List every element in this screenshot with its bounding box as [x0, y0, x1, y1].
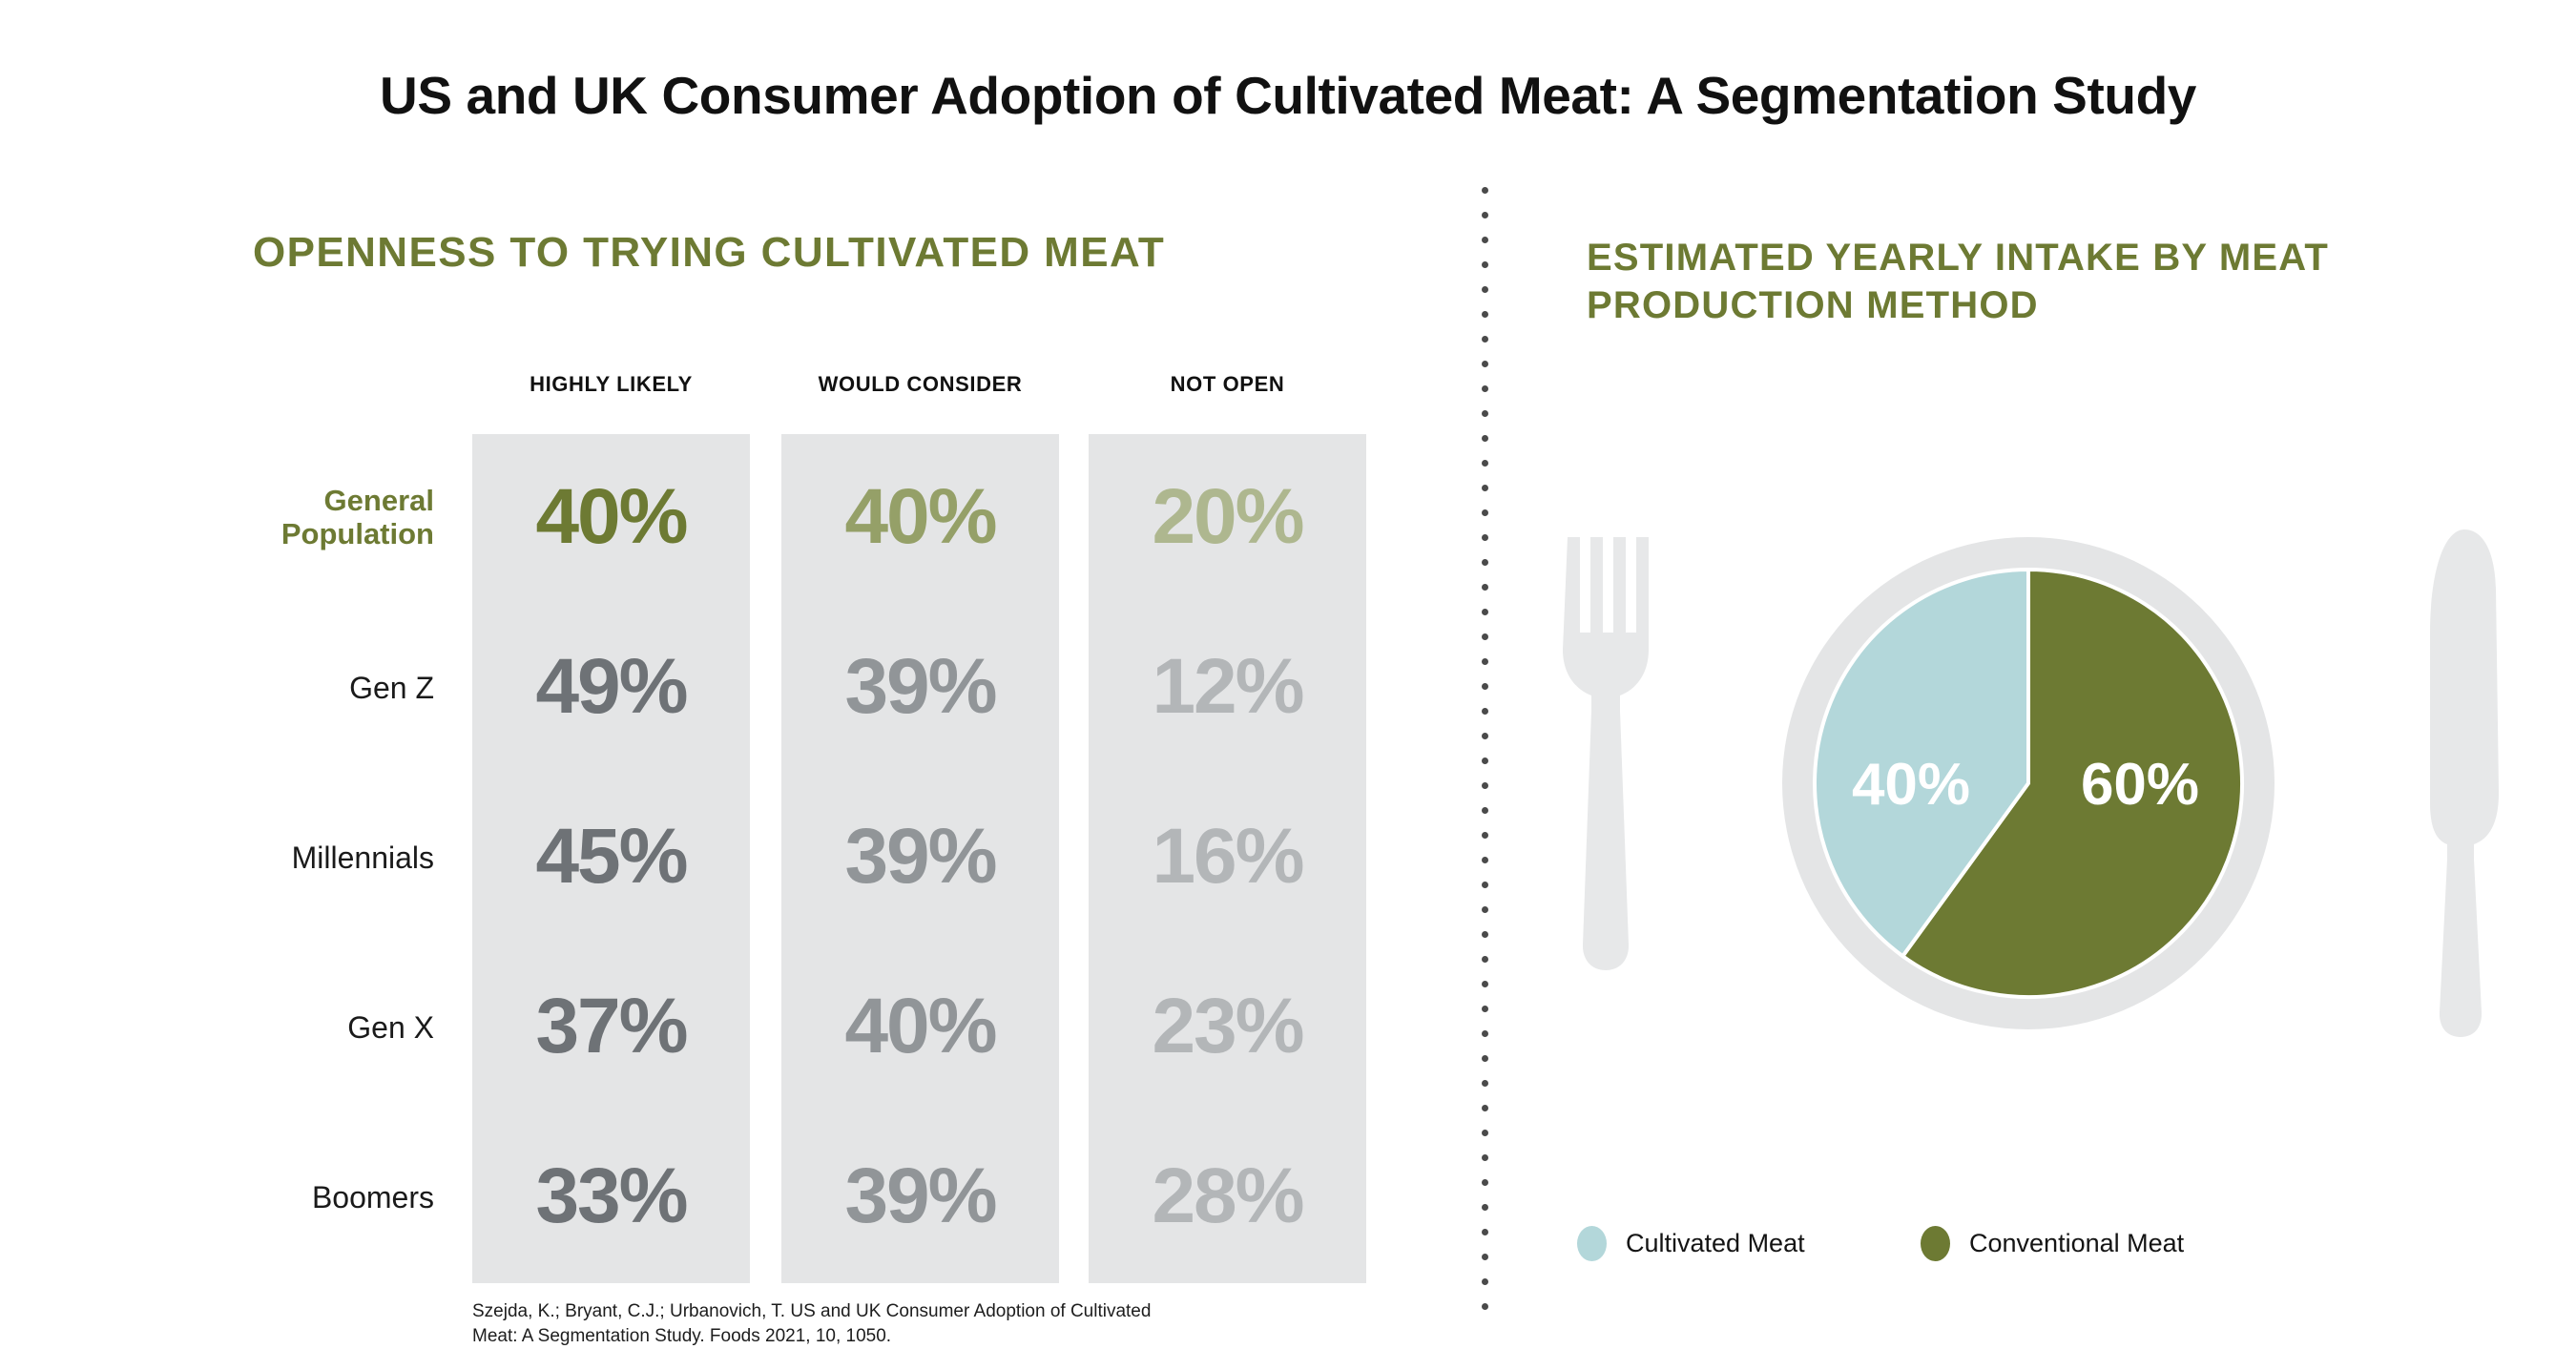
plate-pie-svg: 60% 40% [1482, 520, 2576, 1054]
value-grid: 40%40%20%49%39%12%45%39%16%37%40%23%33%3… [0, 434, 1482, 1283]
value-boomers-highly-likely: 33% [472, 1157, 750, 1235]
column-header-highly-likely: HIGHLY LIKELY [472, 372, 750, 397]
knife-icon [2430, 529, 2499, 1037]
legend-swatch-icon [1577, 1226, 1607, 1261]
legend-label: Conventional Meat [1969, 1229, 2184, 1258]
value-general-population-would-consider: 40% [781, 478, 1059, 556]
value-boomers-would-consider: 39% [781, 1157, 1059, 1235]
value-gen-x-highly-likely: 37% [472, 987, 750, 1066]
column-headers: HIGHLY LIKELYWOULD CONSIDERNOT OPEN [0, 372, 1482, 401]
legend-item-cultivated-meat: Cultivated Meat [1577, 1226, 1805, 1261]
value-millennials-would-consider: 39% [781, 818, 1059, 896]
value-boomers-not-open: 28% [1089, 1157, 1366, 1235]
value-gen-z-would-consider: 39% [781, 648, 1059, 726]
citation-text: Szejda, K.; Bryant, C.J.; Urbanovich, T.… [472, 1299, 1159, 1348]
legend-label: Cultivated Meat [1626, 1229, 1805, 1258]
fork-icon [1563, 537, 1649, 970]
left-section-title: OPENNESS TO TRYING CULTIVATED MEAT [253, 229, 1165, 277]
pie-legend: Cultivated MeatConventional Meat [1482, 1226, 2576, 1283]
legend-item-conventional-meat: Conventional Meat [1921, 1226, 2184, 1261]
infographic-canvas: US and UK Consumer Adoption of Cultivate… [0, 0, 2576, 1349]
value-millennials-highly-likely: 45% [472, 818, 750, 896]
value-gen-z-highly-likely: 49% [472, 648, 750, 726]
openness-panel: OPENNESS TO TRYING CULTIVATED MEAT HIGHL… [0, 0, 1482, 1349]
value-general-population-not-open: 20% [1089, 478, 1366, 556]
legend-swatch-icon [1921, 1226, 1950, 1261]
plate-chart: 60% 40% [1482, 520, 2576, 1054]
value-gen-x-not-open: 23% [1089, 987, 1366, 1066]
value-gen-x-would-consider: 40% [781, 987, 1059, 1066]
value-general-population-highly-likely: 40% [472, 478, 750, 556]
column-header-would-consider: WOULD CONSIDER [781, 372, 1059, 397]
pie-label-cultivated: 40% [1852, 752, 1970, 818]
column-header-not-open: NOT OPEN [1089, 372, 1366, 397]
right-section-title: ESTIMATED YEARLY INTAKE BY MEAT PRODUCTI… [1587, 234, 2474, 329]
value-millennials-not-open: 16% [1089, 818, 1366, 896]
value-gen-z-not-open: 12% [1089, 648, 1366, 726]
pie-label-conventional: 60% [2081, 752, 2199, 818]
intake-panel: ESTIMATED YEARLY INTAKE BY MEAT PRODUCTI… [1482, 0, 2576, 1349]
